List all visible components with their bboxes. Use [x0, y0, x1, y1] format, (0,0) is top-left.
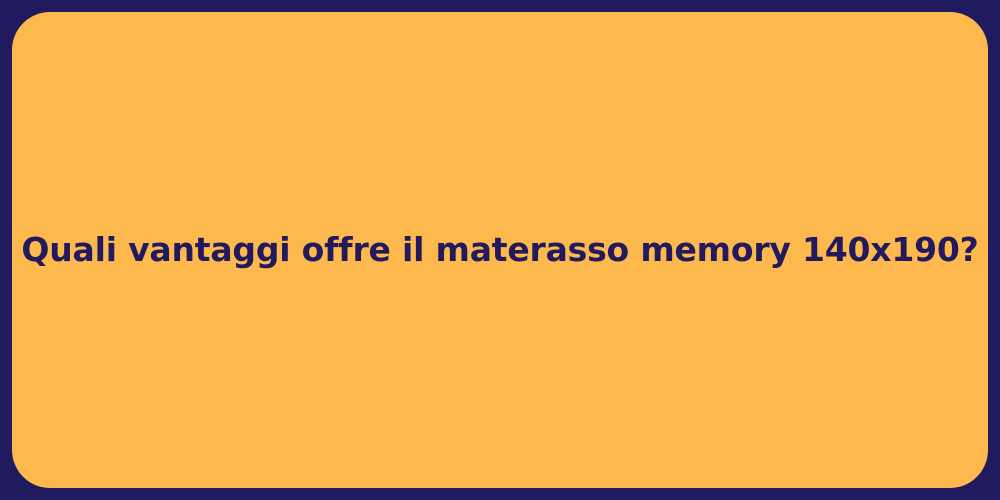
- page-frame: Quali vantaggi offre il materasso memory…: [0, 0, 1000, 500]
- card-content: Quali vantaggi offre il materasso memory…: [12, 229, 988, 270]
- question-card: Quali vantaggi offre il materasso memory…: [12, 12, 988, 488]
- card-headline: Quali vantaggi offre il materasso memory…: [21, 229, 978, 270]
